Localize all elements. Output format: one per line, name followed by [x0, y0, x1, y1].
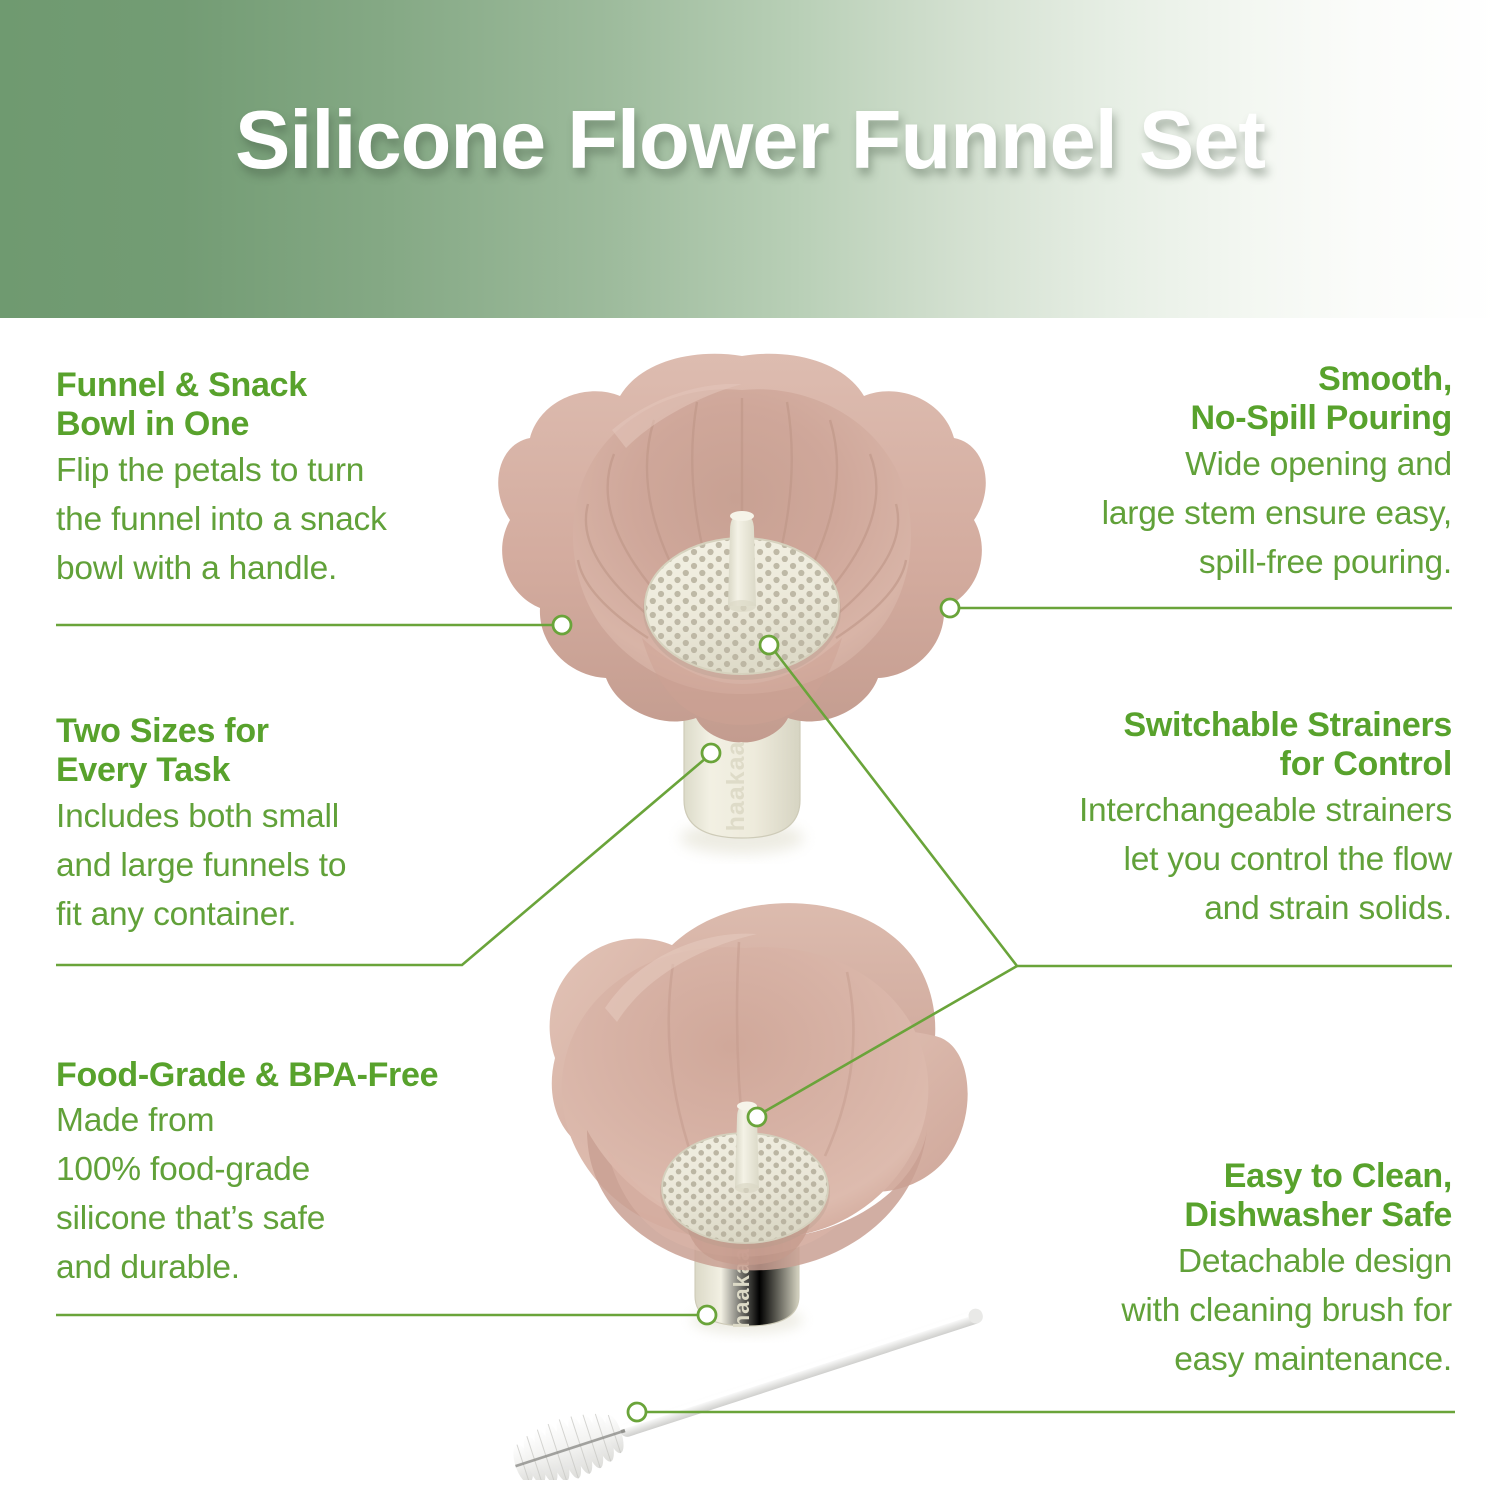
- body-line: Flip the petals to turn: [56, 452, 364, 489]
- heading-line: No-Spill Pouring: [1190, 399, 1452, 437]
- feature-heading: Food-Grade & BPA-Free: [56, 1056, 526, 1095]
- brush-handle: [618, 1307, 985, 1439]
- feature-body: Interchangeable strainers let you contro…: [992, 787, 1452, 934]
- heading-line: Food-Grade & BPA-Free: [56, 1056, 438, 1094]
- center-spout-top: [728, 511, 756, 612]
- feature-food-grade: Food-Grade & BPA-Free Made from 100% foo…: [56, 1056, 526, 1293]
- feature-two-sizes: Two Sizes for Every Task Includes both s…: [56, 712, 476, 940]
- header-banner: Silicone Flower Funnel Set: [0, 0, 1500, 318]
- brush-bristles: [506, 1401, 635, 1480]
- infographic-page: Silicone Flower Funnel Set: [0, 0, 1500, 1500]
- body-line: the funnel into a snack: [56, 501, 387, 538]
- heading-line: Smooth,: [1318, 360, 1452, 398]
- body-line: spill-free pouring.: [1199, 544, 1452, 581]
- feature-heading: Two Sizes for Every Task: [56, 712, 476, 791]
- body-line: and durable.: [56, 1249, 240, 1286]
- feature-switchable-strainers: Switchable Strainers for Control Interch…: [992, 706, 1452, 934]
- body-line: bowl with a handle.: [56, 550, 337, 587]
- feature-heading: Smooth, No-Spill Pouring: [992, 360, 1452, 439]
- body-line: Wide opening and: [1185, 446, 1452, 483]
- heading-line: Bowl in One: [56, 405, 249, 443]
- body-line: Includes both small: [56, 798, 339, 835]
- large-flower-funnel: haakaa: [492, 338, 992, 868]
- brand-mark-top: haakaa: [722, 741, 750, 832]
- body-line: and strain solids.: [1204, 890, 1452, 927]
- heading-line: Switchable Strainers: [1124, 706, 1452, 744]
- body-line: 100% food-grade: [56, 1151, 310, 1188]
- heading-line: Every Task: [56, 751, 230, 789]
- body-line: Made from: [56, 1102, 214, 1139]
- feature-heading: Switchable Strainers for Control: [992, 706, 1452, 785]
- body-line: fit any container.: [56, 896, 296, 933]
- feature-body: Includes both small and large funnels to…: [56, 793, 476, 940]
- body-line: and large funnels to: [56, 847, 346, 884]
- page-title: Silicone Flower Funnel Set: [0, 96, 1500, 183]
- body-line: Interchangeable strainers: [1079, 792, 1452, 829]
- feature-body: Made from 100% food-grade silicone that’…: [56, 1097, 526, 1293]
- body-line: Detachable design: [1178, 1243, 1452, 1280]
- heading-line: for Control: [1280, 745, 1452, 783]
- feature-no-spill-pouring: Smooth, No-Spill Pouring Wide opening an…: [992, 360, 1452, 588]
- small-flower-funnel: haakaa: [495, 868, 995, 1348]
- body-line: easy maintenance.: [1174, 1341, 1452, 1378]
- center-spout-bottom: [735, 1102, 759, 1194]
- feature-heading: Easy to Clean, Dishwasher Safe: [992, 1157, 1452, 1236]
- heading-line: Two Sizes for: [56, 712, 269, 750]
- heading-line: Dishwasher Safe: [1184, 1196, 1452, 1234]
- body-line: large stem ensure easy,: [1102, 495, 1452, 532]
- cleaning-brush: [490, 1300, 1050, 1480]
- feature-heading: Funnel & Snack Bowl in One: [56, 366, 486, 445]
- body-line: let you control the flow: [1123, 841, 1452, 878]
- feature-body: Detachable design with cleaning brush fo…: [992, 1238, 1452, 1385]
- heading-line: Funnel & Snack: [56, 366, 307, 404]
- feature-body: Flip the petals to turn the funnel into …: [56, 447, 486, 594]
- body-line: with cleaning brush for: [1121, 1292, 1452, 1329]
- heading-line: Easy to Clean,: [1224, 1157, 1452, 1195]
- feature-body: Wide opening and large stem ensure easy,…: [992, 441, 1452, 588]
- feature-funnel-snack-bowl: Funnel & Snack Bowl in One Flip the peta…: [56, 366, 486, 594]
- body-line: silicone that’s safe: [56, 1200, 325, 1237]
- feature-easy-to-clean: Easy to Clean, Dishwasher Safe Detachabl…: [992, 1157, 1452, 1385]
